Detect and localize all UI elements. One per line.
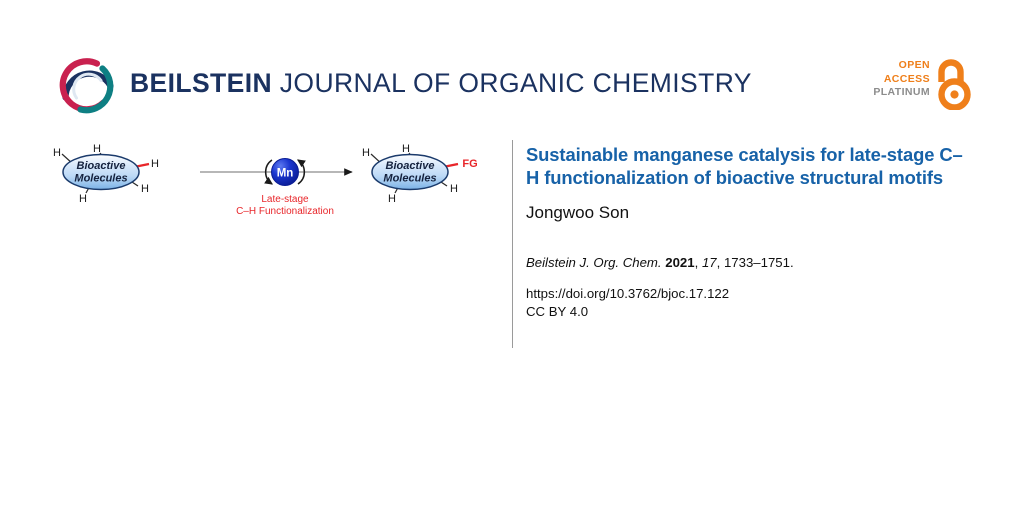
wordmark-journal-of-organic-chemistry: JOURNAL OF ORGANIC CHEMISTRY xyxy=(280,68,752,98)
substrate-structure: Bioactive Molecules H H H H H xyxy=(53,143,159,205)
open-access-line-platinum: PLATINUM xyxy=(873,86,930,100)
reaction-condition-line1: Late-stage xyxy=(261,194,309,205)
article-authors: Jongwoo Son xyxy=(526,189,966,224)
article-title[interactable]: Sustainable manganese catalysis for late… xyxy=(526,143,966,189)
citation-journal: Beilstein J. Org. Chem. xyxy=(526,255,662,270)
open-access-line-open: OPEN xyxy=(873,59,930,73)
citation-volume: 17 xyxy=(702,255,717,270)
article-doi-link[interactable]: https://doi.org/10.3762/bjoc.17.122 xyxy=(526,271,966,303)
citation-pages: 1733–1751. xyxy=(724,255,794,270)
open-access-badge: OPEN ACCESS PLATINUM xyxy=(862,58,972,114)
open-access-unlocked-padlock-icon xyxy=(932,58,972,110)
open-access-line-access: ACCESS xyxy=(873,73,930,87)
open-access-label: OPEN ACCESS PLATINUM xyxy=(873,59,930,100)
article-license: CC BY 4.0 xyxy=(526,303,966,321)
substrate-hydrogen-reactive: H xyxy=(151,158,159,170)
reaction-condition-line2: C–H Functionalization xyxy=(236,206,334,217)
product-label-line1: Bioactive xyxy=(386,160,435,172)
product-functional-group-label: FG xyxy=(462,158,477,170)
product-label-line2: Molecules xyxy=(383,173,436,185)
substrate-hydrogen-top: H xyxy=(93,143,101,155)
product-hydrogen-bottom: H xyxy=(388,193,396,205)
article-citation: Beilstein J. Org. Chem. 2021, 17, 1733–1… xyxy=(526,224,966,271)
masthead: BEILSTEIN JOURNAL OF ORGANIC CHEMISTRY O… xyxy=(0,0,1024,130)
catalyst-label: Mn xyxy=(277,168,294,180)
product-hydrogen-top: H xyxy=(402,143,410,155)
reaction-arrow: Mn Late-stage C–H Functionalization xyxy=(200,159,352,218)
substrate-hydrogen-bottom: H xyxy=(79,193,87,205)
substrate-label-line1: Bioactive xyxy=(77,160,126,172)
substrate-hydrogen-lower-right: H xyxy=(141,183,149,195)
article-metadata: Sustainable manganese catalysis for late… xyxy=(526,143,966,320)
beilstein-spiral-logo-icon xyxy=(57,55,119,117)
citation-year: 2021 xyxy=(665,255,694,270)
graphical-abstract: Bioactive Molecules H H H H H Mn Late-st… xyxy=(40,136,500,226)
wordmark-beilstein: BEILSTEIN xyxy=(130,68,272,98)
substrate-hydrogen-left: H xyxy=(53,147,61,159)
product-hydrogen-left: H xyxy=(362,147,370,159)
product-structure: Bioactive Molecules H H H H FG xyxy=(362,143,478,205)
journal-wordmark: BEILSTEIN JOURNAL OF ORGANIC CHEMISTRY xyxy=(130,68,752,99)
vertical-divider xyxy=(512,140,513,348)
product-hydrogen-lower-right: H xyxy=(450,183,458,195)
substrate-label-line2: Molecules xyxy=(74,173,127,185)
